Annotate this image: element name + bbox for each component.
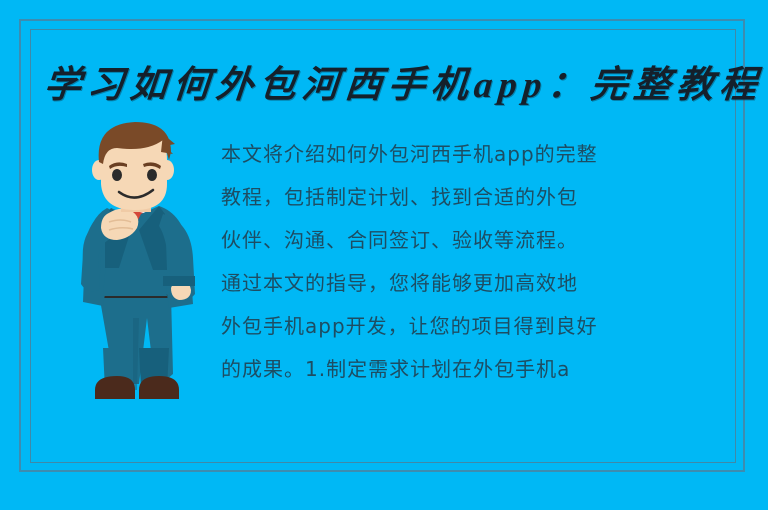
body-text-block: 本文将介绍如何外包河西手机app的完整 教程，包括制定计划、找到合适的外包 伙伴…: [221, 133, 543, 391]
body-text-line: 通过本文的指导，您将能够更加高效地: [221, 262, 543, 305]
body-text-line: 本文将介绍如何外包河西手机app的完整: [221, 133, 543, 176]
eye-left: [112, 169, 122, 181]
page-title: 学习如何外包河西手机app：完整教程: [42, 58, 727, 114]
body-text-line: 外包手机app开发，让您的项目得到良好: [221, 305, 543, 348]
hair-spike: [161, 134, 175, 154]
eye-right: [147, 169, 157, 181]
shoe-right: [139, 376, 179, 399]
body-text-line: 教程，包括制定计划、找到合适的外包: [221, 176, 543, 219]
thinking-businessman-illustration: [55, 118, 215, 418]
poster-canvas: 学习如何外包河西手机app：完整教程 本文将介绍如何外包河西手机app的完整 教…: [0, 0, 768, 510]
body-text-line: 伙伴、沟通、合同签订、验收等流程。: [221, 219, 543, 262]
pocket-flap: [163, 276, 195, 286]
body-text-line: 的成果。1.制定需求计划在外包手机a: [221, 348, 543, 391]
shoe-left: [95, 376, 135, 399]
